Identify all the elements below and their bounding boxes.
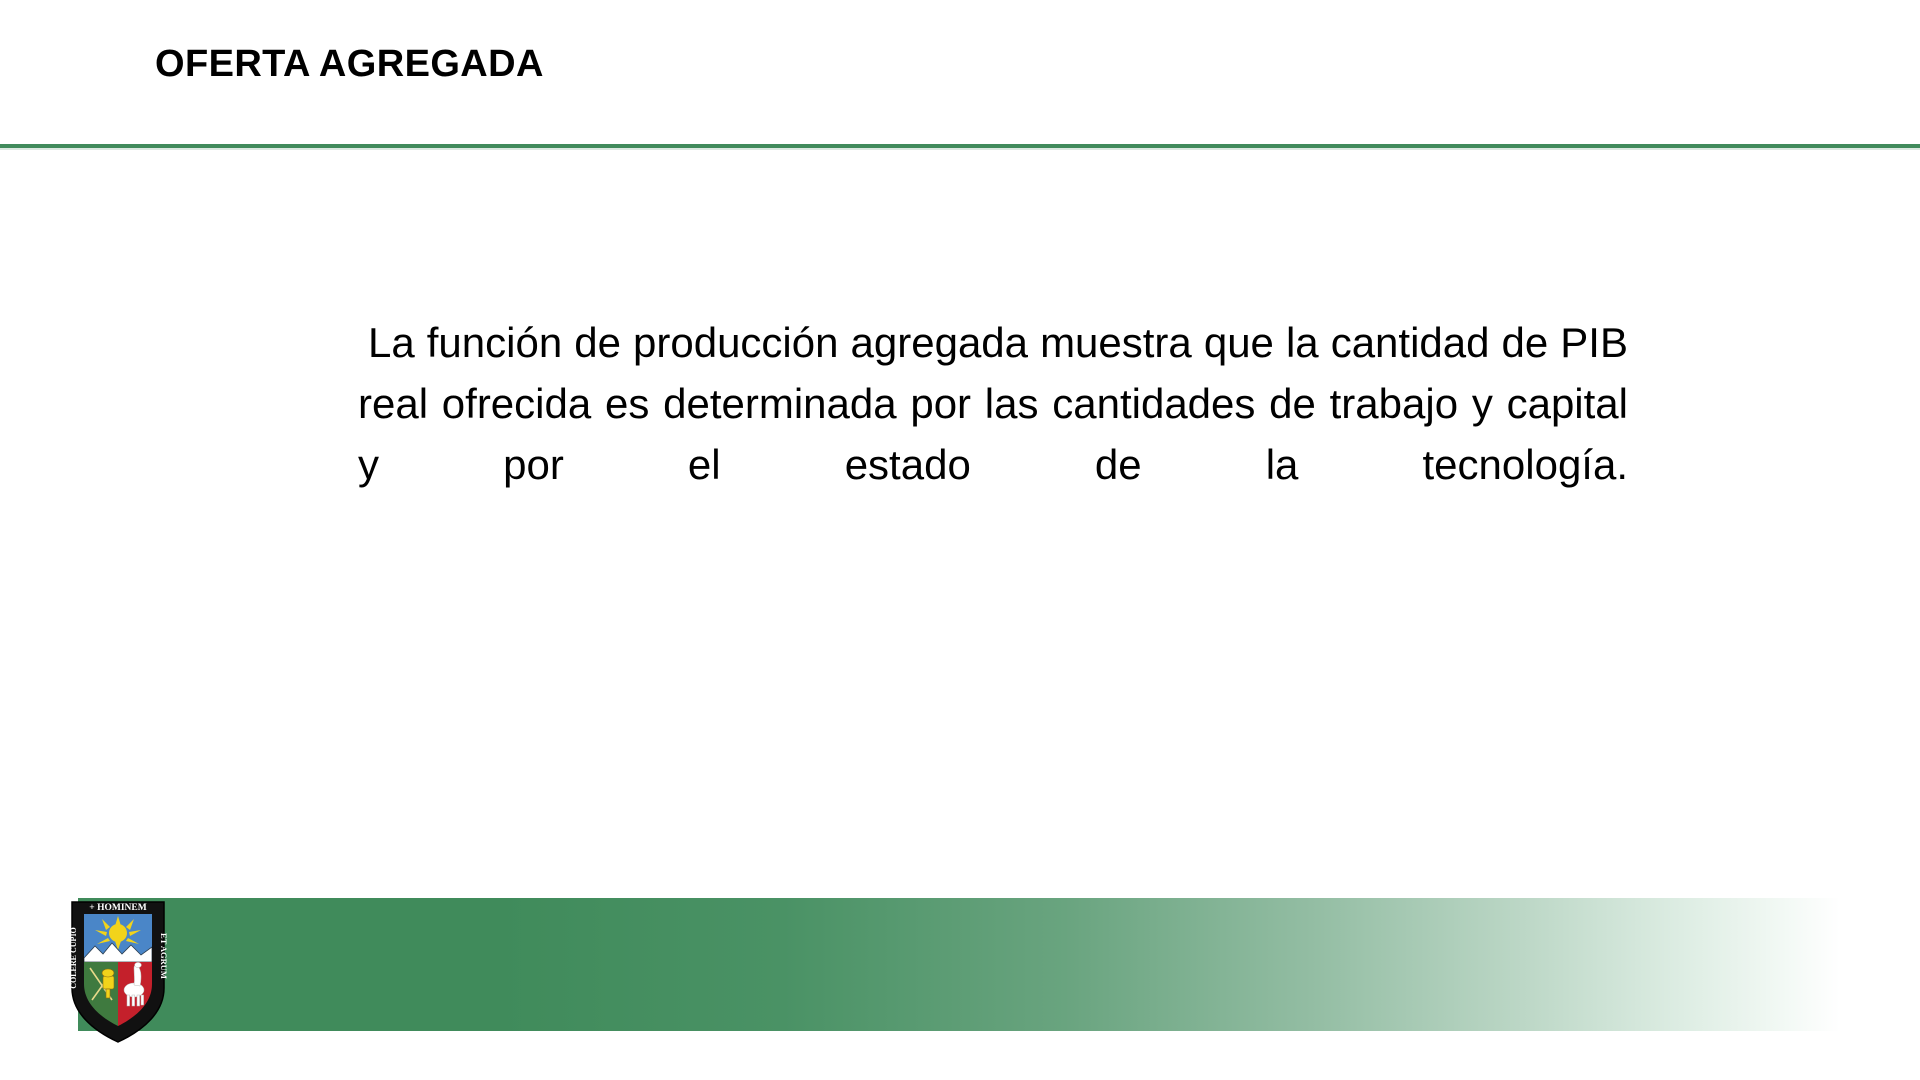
footer-band xyxy=(78,898,1840,1031)
header-divider-shadow xyxy=(0,148,1920,150)
body-text-block: La función de producción agregada muestr… xyxy=(358,312,1628,556)
crest-motto-top: + HOMINEM xyxy=(89,903,146,913)
page-title: OFERTA AGREGADA xyxy=(155,44,544,86)
body-paragraph: La función de producción agregada muestr… xyxy=(358,312,1628,556)
crest-motto-right: ET AGRUM xyxy=(159,933,169,979)
crest-motto-left: COLERE CUPIO xyxy=(69,927,78,989)
coat-of-arms-icon: + HOMINEM ET AGRUM COLERE CUPIO xyxy=(62,896,174,1048)
slide: OFERTA AGREGADA La función de producción… xyxy=(0,0,1920,1080)
